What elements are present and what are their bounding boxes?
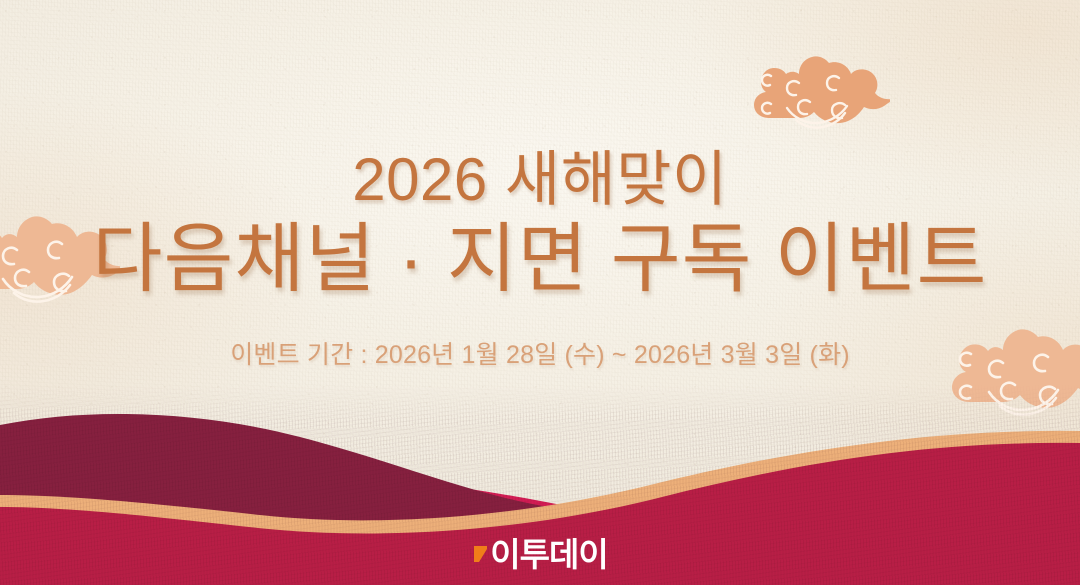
brand-logo[interactable]: 이투데이 — [0, 538, 1080, 571]
korean-cloud-icon-left — [0, 212, 120, 308]
brand-name-label: 이투데이 — [490, 538, 607, 571]
etoday-flag-mark-icon — [472, 540, 488, 570]
new-year-subscription-event-banner: 2026 새해맞이 다음채널 · 지면 구독 이벤트 이벤트 기간 : 2026… — [0, 0, 1080, 585]
korean-cloud-icon-top-right — [740, 50, 890, 132]
